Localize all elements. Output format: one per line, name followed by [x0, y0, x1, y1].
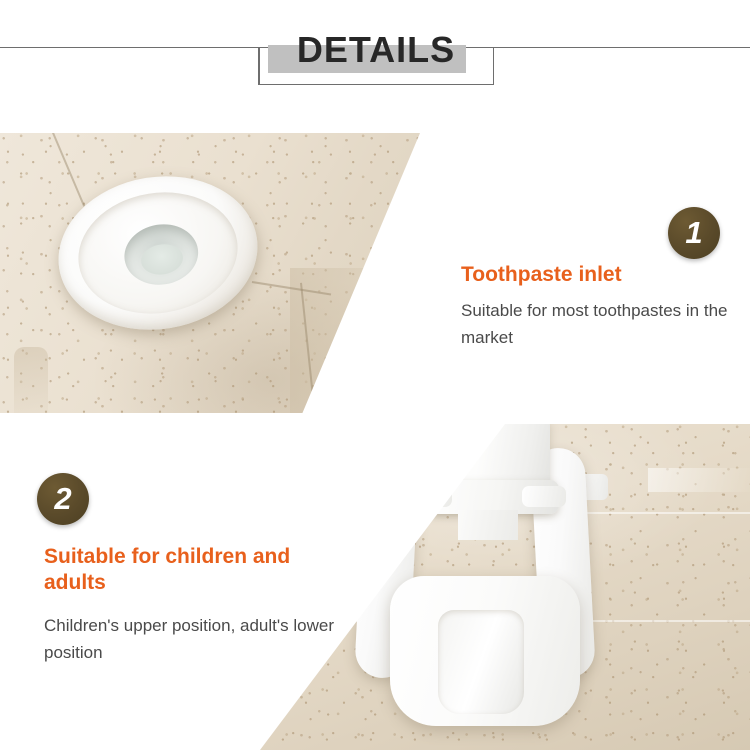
section-title-2: Suitable for children and adults — [44, 544, 314, 596]
dispenser-press-plate — [390, 576, 580, 726]
page-title: DETAILS — [258, 28, 494, 72]
section-body-1: Suitable for most toothpastes in the mar… — [461, 297, 746, 351]
wall-mount-bracket — [648, 468, 750, 492]
page-header: DETAILS — [0, 0, 750, 120]
lever-arm-pin-right — [522, 486, 566, 507]
product-detail-page: DETAILS — [0, 0, 750, 750]
section-body-2: Children's upper position, adult's lower… — [44, 612, 334, 666]
section-title-1: Toothpaste inlet — [461, 262, 741, 288]
inlet-funnel — [120, 219, 202, 290]
press-plate-tab — [438, 610, 524, 714]
dispenser-nozzle-neck — [458, 510, 518, 540]
photo-dispenser-lever — [260, 424, 750, 750]
inlet-silicone-ring — [70, 181, 247, 325]
section-number-badge-2: 2 — [37, 473, 89, 525]
inlet-opening — [139, 241, 185, 277]
section-number-badge-1: 1 — [668, 207, 720, 259]
dispenser-base-notch — [14, 347, 48, 413]
photo-toothpaste-inlet — [0, 133, 420, 413]
